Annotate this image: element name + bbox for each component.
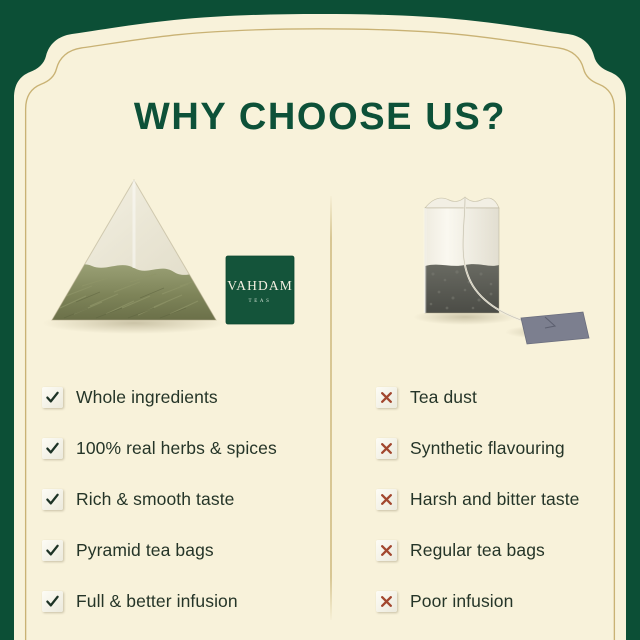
list-item-label: Tea dust <box>410 387 477 408</box>
benefits-list: Whole ingredients 100% real herbs & spic… <box>42 372 324 627</box>
list-item-label: Full & better infusion <box>76 591 238 612</box>
cross-icon <box>376 489 397 510</box>
list-item-label: 100% real herbs & spices <box>76 438 277 459</box>
cross-icon <box>376 591 397 612</box>
cross-icon <box>376 540 397 561</box>
list-item-label: Poor infusion <box>410 591 513 612</box>
page-title: WHY CHOOSE US? <box>0 96 640 139</box>
pyramid-tea-bag-image: VAHDAM TEAS <box>30 168 320 348</box>
cross-icon <box>376 387 397 408</box>
list-item: 100% real herbs & spices <box>42 423 324 474</box>
list-item: Synthetic flavouring <box>376 423 626 474</box>
check-icon <box>42 489 63 510</box>
list-item-label: Regular tea bags <box>410 540 545 561</box>
list-item: Rich & smooth taste <box>42 474 324 525</box>
list-item-label: Harsh and bitter taste <box>410 489 580 510</box>
list-item: Regular tea bags <box>376 525 626 576</box>
drawbacks-list: Tea dust Synthetic flavouring Harsh and … <box>376 372 626 627</box>
paper-tag <box>521 312 589 344</box>
svg-text:TEAS: TEAS <box>249 299 272 304</box>
list-item: Tea dust <box>376 372 626 423</box>
list-item-label: Pyramid tea bags <box>76 540 214 561</box>
check-icon <box>42 387 63 408</box>
list-item: Harsh and bitter taste <box>376 474 626 525</box>
check-icon <box>42 540 63 561</box>
list-item: Pyramid tea bags <box>42 525 324 576</box>
check-icon <box>42 438 63 459</box>
cross-icon <box>376 438 397 459</box>
column-divider <box>330 196 332 620</box>
list-item: Whole ingredients <box>42 372 324 423</box>
svg-text:VAHDAM: VAHDAM <box>227 278 293 293</box>
list-item-label: Whole ingredients <box>76 387 218 408</box>
check-icon <box>42 591 63 612</box>
why-choose-us-poster: WHY CHOOSE US? <box>0 0 640 640</box>
list-item-label: Synthetic flavouring <box>410 438 565 459</box>
list-item: Poor infusion <box>376 576 626 627</box>
list-item: Full & better infusion <box>42 576 324 627</box>
brand-tag: VAHDAM TEAS <box>226 256 294 324</box>
list-item-label: Rich & smooth taste <box>76 489 235 510</box>
square-paper-tea-bag-image <box>395 168 615 348</box>
